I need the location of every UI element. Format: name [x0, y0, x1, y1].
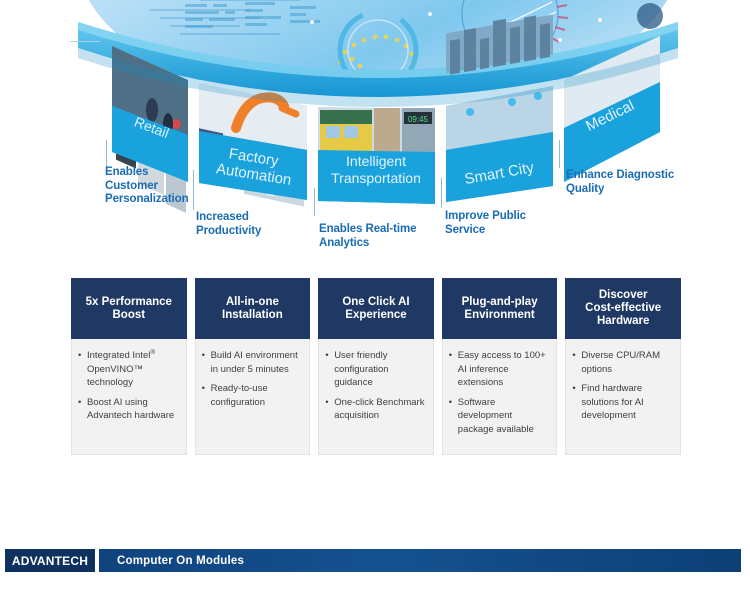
bullet-item: • Easy access to 100+ AI inference exten… [449, 349, 551, 390]
bullet-item: • Boost AI using Advantech hardware [78, 396, 180, 423]
card-title-installation: All-in-one Installation [195, 278, 311, 339]
bullet-dot-icon: • [78, 349, 87, 390]
caption-transportation-line2: Analytics [319, 237, 416, 251]
bullet-dot-icon: • [572, 349, 581, 376]
card-title-line: Cost-effective [585, 302, 661, 315]
feature-card-oneclick[interactable]: One Click AI Experience • User friendly … [318, 279, 434, 455]
caption-factory-line2: Productivity [196, 225, 261, 239]
caption-medical-line1: Enhance Diagnostic [566, 169, 674, 183]
bullet-text: Software development package available [458, 396, 551, 437]
card-title-line: 5x Performance [86, 296, 172, 309]
leader-line-factory [193, 170, 194, 210]
card-title-line: One Click AI [342, 296, 409, 309]
bullet-item: • Find hardware solutions for AI develop… [572, 382, 674, 423]
card-body-installation: • Build AI environment in under 5 minute… [196, 339, 310, 454]
bullet-dot-icon: • [78, 396, 87, 423]
svg-text:Transportation: Transportation [331, 170, 421, 186]
feature-card-installation[interactable]: All-in-one Installation • Build AI envir… [195, 279, 311, 455]
advantech-logo-text: ADVANTECH [12, 554, 88, 568]
bullet-dot-icon: • [449, 349, 458, 390]
card-title-plugandplay: Plug-and-play Environment [442, 278, 558, 339]
card-body-performance: • Integrated Intel® OpenVINO™ technology… [72, 339, 186, 454]
bullet-text: Integrated Intel® OpenVINO™ technology [87, 349, 180, 390]
card-title-oneclick: One Click AI Experience [318, 278, 434, 339]
caption-smartcity-line2: Service [445, 224, 526, 238]
bullet-dot-icon: • [202, 349, 211, 376]
card-title-line: Plug-and-play [462, 296, 538, 309]
caption-retail: Enables Customer Personalization [105, 166, 189, 207]
hero-tile-transportation: 09:45 Intelligent Transportation [318, 107, 435, 204]
caption-smartcity: Improve Public Service [445, 210, 526, 237]
bullet-text: Diverse CPU/RAM options [581, 349, 674, 376]
bullet-text: Boost AI using Advantech hardware [87, 396, 180, 423]
bullet-text: Build AI environment in under 5 minutes [211, 349, 304, 376]
card-title-line: Experience [342, 309, 409, 322]
bullet-dot-icon: • [325, 396, 334, 423]
caption-transportation-line1: Enables Real-time [319, 223, 416, 237]
caption-retail-line2: Customer [105, 180, 189, 194]
card-body-oneclick: • User friendly configuration guidance •… [319, 339, 433, 454]
bullet-text: Find hardware solutions for AI developme… [581, 382, 674, 423]
hero-tile-smartcity: Smart City [446, 14, 553, 202]
bullet-item: • One-click Benchmark acquisition [325, 396, 427, 423]
card-title-line: Discover [585, 289, 661, 302]
caption-factory-line1: Increased [196, 211, 261, 225]
caption-retail-line3: Personalization [105, 193, 189, 207]
leader-line-medical [559, 140, 560, 168]
advantech-logo: ADVANTECH [5, 549, 95, 572]
bullet-dot-icon: • [449, 396, 458, 437]
feature-card-performance[interactable]: 5x Performance Boost • Integrated Intel®… [71, 279, 187, 455]
card-title-hardware: Discover Cost-effective Hardware [565, 278, 681, 339]
card-title-line: All-in-one [222, 296, 283, 309]
svg-text:09:45: 09:45 [408, 115, 429, 124]
feature-card-plugandplay[interactable]: Plug-and-play Environment • Easy access … [442, 279, 558, 455]
registered-icon: ® [150, 349, 155, 356]
card-title-performance: 5x Performance Boost [71, 278, 187, 339]
bullet-dot-icon: • [325, 349, 334, 390]
leader-line-smartcity [441, 178, 442, 208]
hero-graphic: Retail Factory Automation [0, 0, 750, 262]
bullet-item: • Integrated Intel® OpenVINO™ technology [78, 349, 180, 390]
bullet-item: • Ready-to-use configuration [202, 382, 304, 409]
bullet-text: Ready-to-use configuration [211, 382, 304, 409]
card-title-line: Hardware [585, 315, 661, 328]
svg-text:Intelligent: Intelligent [346, 153, 406, 169]
leader-line-transportation [314, 188, 315, 216]
bullet-item: • Build AI environment in under 5 minute… [202, 349, 304, 376]
card-body-plugandplay: • Easy access to 100+ AI inference exten… [443, 339, 557, 454]
card-title-line: Boost [86, 309, 172, 322]
feature-card-hardware[interactable]: Discover Cost-effective Hardware • Diver… [565, 279, 681, 455]
bullet-text: Easy access to 100+ AI inference extensi… [458, 349, 551, 390]
card-body-hardware: • Diverse CPU/RAM options • Find hardwar… [566, 339, 680, 454]
caption-factory: Increased Productivity [196, 211, 261, 238]
bullet-item: • User friendly configuration guidance [325, 349, 427, 390]
caption-retail-line1: Enables [105, 166, 189, 180]
caption-medical-line2: Quality [566, 183, 674, 197]
card-title-line: Installation [222, 309, 283, 322]
bullet-text: One-click Benchmark acquisition [334, 396, 427, 423]
feature-card-row: 5x Performance Boost • Integrated Intel®… [71, 279, 681, 455]
footer-title-bar: Computer On Modules [99, 549, 741, 572]
bullet-text: User friendly configuration guidance [334, 349, 427, 390]
caption-smartcity-line1: Improve Public [445, 210, 526, 224]
left-connector-line [70, 41, 100, 42]
bullet-dot-icon: • [202, 382, 211, 409]
footer-title-text: Computer On Modules [117, 555, 244, 567]
bullet-item: • Software development package available [449, 396, 551, 437]
caption-transportation: Enables Real-time Analytics [319, 223, 416, 250]
footer-bar: ADVANTECH Computer On Modules [5, 549, 741, 572]
caption-medical: Enhance Diagnostic Quality [566, 169, 674, 196]
card-title-line: Environment [462, 309, 538, 322]
bullet-dot-icon: • [572, 382, 581, 423]
bullet-item: • Diverse CPU/RAM options [572, 349, 674, 376]
